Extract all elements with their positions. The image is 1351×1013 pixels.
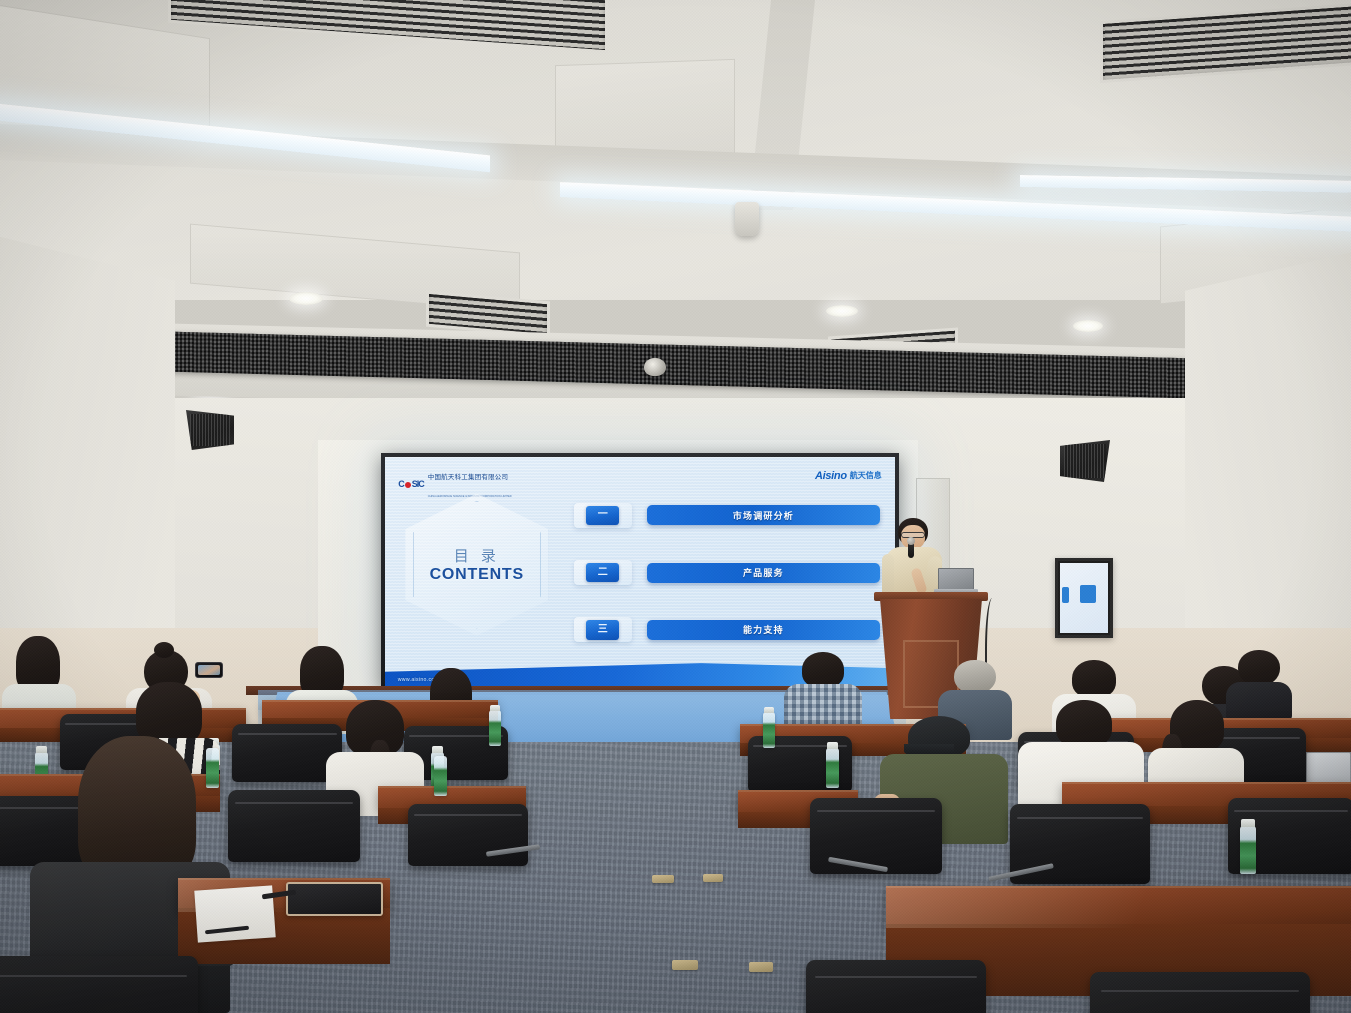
casic-logo-text: 中国航天科工集团有限公司 CHINA AEROSPACE SCIENCE & I… bbox=[428, 466, 512, 502]
chair[interactable] bbox=[1090, 972, 1310, 1013]
toc-number-plate: 一 bbox=[574, 503, 632, 528]
wall-monitor bbox=[1055, 558, 1113, 638]
casic-chinese-name: 中国航天科工集团有限公司 bbox=[428, 474, 508, 481]
toc-bar-2[interactable]: 产品服务 bbox=[647, 563, 880, 583]
water-bottle[interactable] bbox=[489, 710, 501, 746]
toc-number-3: 三 bbox=[598, 625, 608, 635]
toc-bar-3[interactable]: 能力支持 bbox=[647, 620, 880, 640]
casic-logo-dot-icon bbox=[405, 482, 411, 488]
attendee-laptop[interactable] bbox=[1306, 752, 1351, 786]
aisino-english: Aisino bbox=[815, 470, 847, 482]
casic-logo-mark: CSIC bbox=[398, 479, 424, 489]
tablet[interactable] bbox=[286, 882, 383, 916]
toc-bar-1[interactable]: 市场调研分析 bbox=[647, 505, 880, 525]
attendee-hair-grey bbox=[954, 660, 996, 694]
speaker-grille-icon bbox=[1064, 444, 1106, 478]
bottle-cap-icon bbox=[764, 707, 774, 713]
toc-number-2: 二 bbox=[598, 568, 608, 578]
downlight-icon bbox=[289, 292, 323, 305]
security-camera-icon bbox=[644, 358, 666, 376]
casic-mark-tail: SIC bbox=[412, 479, 424, 489]
floor-outlet-icon bbox=[703, 874, 723, 882]
chair[interactable] bbox=[228, 790, 360, 862]
microphone-head-icon bbox=[907, 537, 915, 545]
bottle-cap-icon bbox=[490, 705, 500, 711]
contents-hexagon: 目 录 CONTENTS bbox=[405, 494, 548, 636]
toc-row-2[interactable]: 二 产品服务 bbox=[574, 560, 880, 585]
smartphone-screen bbox=[198, 665, 220, 675]
speaker-grille-icon bbox=[190, 414, 230, 446]
chair[interactable] bbox=[806, 960, 986, 1013]
attendee-hair bbox=[1056, 700, 1112, 748]
attendee-hair bbox=[802, 652, 844, 688]
smartphone[interactable] bbox=[195, 662, 223, 678]
attendee-hair bbox=[1072, 660, 1116, 698]
contents-chinese-label: 目 录 bbox=[454, 545, 500, 566]
chair[interactable] bbox=[408, 804, 528, 866]
toc-number-chip: 三 bbox=[586, 620, 619, 640]
chair[interactable] bbox=[0, 956, 198, 1013]
attendee-hair-bun bbox=[154, 642, 174, 658]
chair[interactable] bbox=[810, 798, 942, 874]
aisino-chinese: 航天信息 bbox=[850, 470, 882, 481]
toc-number-plate: 二 bbox=[574, 560, 632, 585]
bottle-cap-icon bbox=[827, 742, 838, 749]
attendee-hair bbox=[1238, 650, 1280, 686]
presenter-laptop-lid bbox=[938, 568, 974, 591]
toc-label-2: 产品服务 bbox=[743, 566, 784, 579]
floor-outlet-icon bbox=[652, 875, 674, 883]
casic-logo: CSIC 中国航天科工集团有限公司 CHINA AEROSPACE SCIENC… bbox=[398, 466, 511, 502]
toc-number-plate: 三 bbox=[574, 617, 632, 642]
contents-english-label: CONTENTS bbox=[430, 566, 524, 584]
toc-number-chip: 二 bbox=[586, 563, 619, 583]
toc-number-chip: 一 bbox=[586, 506, 619, 526]
casic-mark-letter: C bbox=[398, 479, 404, 489]
toc-row-3[interactable]: 三 能力支持 bbox=[574, 617, 880, 642]
aisino-logo: Aisino 航天信息 bbox=[815, 470, 882, 482]
toc-label-1: 市场调研分析 bbox=[733, 509, 794, 522]
water-bottle[interactable] bbox=[434, 756, 447, 796]
water-bottle[interactable] bbox=[826, 748, 839, 788]
wall-monitor-chip-icon bbox=[1062, 587, 1069, 603]
water-bottle[interactable] bbox=[1240, 826, 1256, 874]
floor-outlet-icon bbox=[749, 962, 773, 972]
wall-speaker-right bbox=[1060, 440, 1110, 482]
ceiling-sensor-icon bbox=[735, 202, 759, 236]
downlight-icon bbox=[1073, 320, 1103, 332]
bottle-cap-icon bbox=[432, 746, 443, 753]
conference-room-photo: CSIC 中国航天科工集团有限公司 CHINA AEROSPACE SCIENC… bbox=[0, 0, 1351, 1013]
downlight-icon bbox=[826, 305, 858, 317]
bottle-cap-icon bbox=[1241, 819, 1255, 827]
desk-row-1-right bbox=[886, 886, 1351, 928]
wall-speaker-left bbox=[186, 410, 234, 450]
wall-monitor-chip-icon bbox=[1080, 585, 1096, 603]
toc-label-3: 能力支持 bbox=[743, 623, 784, 636]
water-bottle[interactable] bbox=[763, 712, 775, 748]
floor-outlet-icon bbox=[672, 960, 698, 970]
toc-row-1[interactable]: 一 市场调研分析 bbox=[574, 503, 880, 528]
toc-number-1: 一 bbox=[598, 510, 608, 520]
